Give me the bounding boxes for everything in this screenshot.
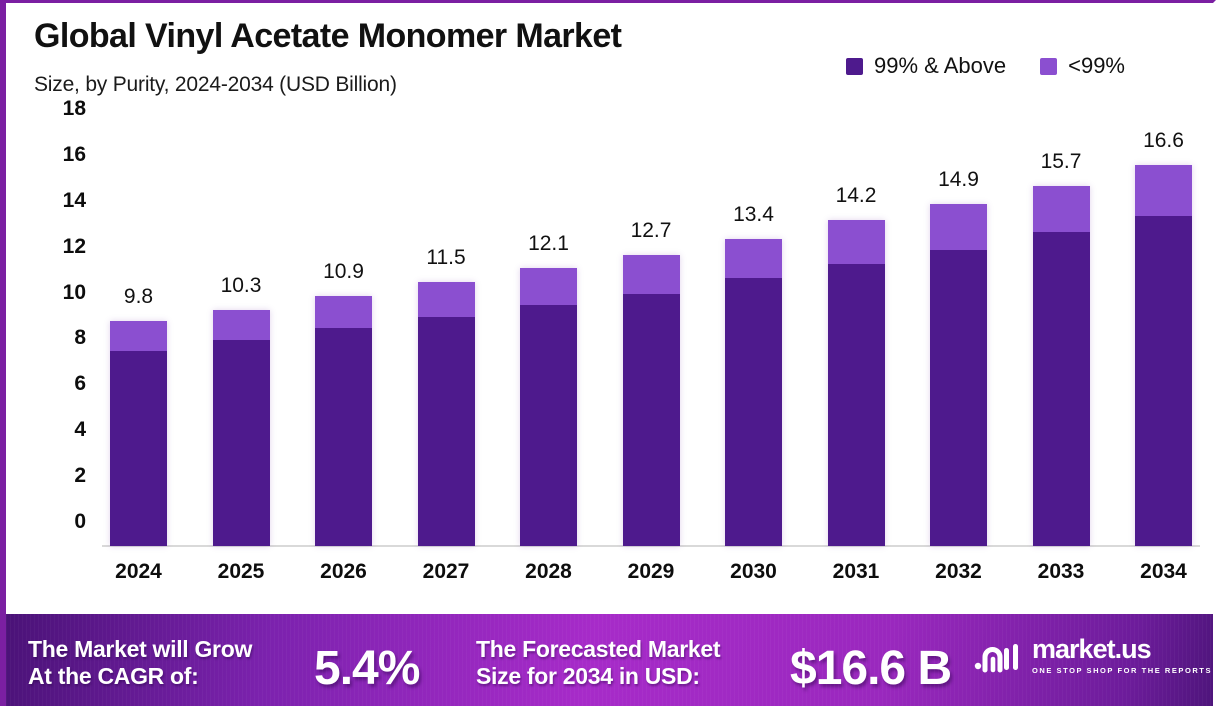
x-axis-label: 2032 bbox=[935, 560, 982, 584]
bar-value-label: 9.8 bbox=[124, 285, 153, 309]
bar-group[interactable]: 14.22031 bbox=[828, 133, 885, 546]
bar-segment-99-and-above[interactable] bbox=[418, 317, 475, 546]
cagr-value: 5.4% bbox=[314, 641, 419, 696]
bar-stack[interactable] bbox=[213, 310, 270, 546]
bar-segment-below-99[interactable] bbox=[110, 321, 167, 351]
legend-label: 99% & Above bbox=[874, 53, 1006, 79]
bar-stack[interactable] bbox=[828, 220, 885, 546]
y-axis-tick-label: 2 bbox=[46, 464, 86, 488]
bar-segment-below-99[interactable] bbox=[828, 220, 885, 264]
bar-stack[interactable] bbox=[623, 255, 680, 546]
bar-stack[interactable] bbox=[725, 239, 782, 546]
y-axis-tick-label: 0 bbox=[46, 510, 86, 534]
bar-stack[interactable] bbox=[520, 268, 577, 546]
bar-segment-below-99[interactable] bbox=[418, 282, 475, 316]
x-axis-label: 2028 bbox=[525, 560, 572, 584]
bar-group[interactable]: 14.92032 bbox=[930, 133, 987, 546]
bar-value-label: 11.5 bbox=[426, 246, 465, 270]
bar-segment-99-and-above[interactable] bbox=[110, 351, 167, 546]
y-axis-tick-label: 8 bbox=[46, 326, 86, 350]
x-axis-label: 2026 bbox=[320, 560, 367, 584]
logo-text: market.us ONE STOP SHOP FOR THE REPORTS bbox=[1032, 636, 1212, 675]
bar-stack[interactable] bbox=[110, 321, 167, 546]
page-title: Global Vinyl Acetate Monomer Market bbox=[34, 17, 621, 56]
y-axis-tick-label: 16 bbox=[46, 143, 86, 167]
legend-swatch-icon bbox=[846, 58, 863, 75]
bar-segment-below-99[interactable] bbox=[315, 296, 372, 328]
bar-group[interactable]: 13.42030 bbox=[725, 133, 782, 546]
cagr-label: The Market will Grow At the CAGR of: bbox=[28, 636, 252, 690]
chart-legend: 99% & Above<99% bbox=[846, 53, 1125, 79]
bar-value-label: 12.7 bbox=[631, 219, 672, 243]
bar-segment-below-99[interactable] bbox=[213, 310, 270, 340]
bar-segment-below-99[interactable] bbox=[520, 268, 577, 305]
bar-value-label: 10.9 bbox=[323, 260, 364, 284]
x-axis-label: 2034 bbox=[1140, 560, 1187, 584]
bar-group[interactable]: 12.12028 bbox=[520, 133, 577, 546]
legend-item-1[interactable]: <99% bbox=[1040, 53, 1125, 79]
bar-segment-below-99[interactable] bbox=[623, 255, 680, 294]
x-axis-label: 2030 bbox=[730, 560, 777, 584]
y-axis-tick-label: 14 bbox=[46, 189, 86, 213]
y-axis-tick-label: 4 bbox=[46, 418, 86, 442]
x-axis-label: 2025 bbox=[218, 560, 265, 584]
bar-segment-99-and-above[interactable] bbox=[725, 278, 782, 546]
bar-segment-99-and-above[interactable] bbox=[315, 328, 372, 546]
bar-group[interactable]: 10.32025 bbox=[213, 133, 270, 546]
bar-segment-99-and-above[interactable] bbox=[930, 250, 987, 546]
y-axis-tick-label: 12 bbox=[46, 235, 86, 259]
logo-name: market.us bbox=[1032, 636, 1212, 663]
bar-segment-99-and-above[interactable] bbox=[520, 305, 577, 546]
bar-series-container: 9.8202410.3202510.9202611.5202712.120281… bbox=[102, 133, 1200, 546]
page-subtitle: Size, by Purity, 2024-2034 (USD Billion) bbox=[34, 73, 397, 97]
x-axis-label: 2027 bbox=[423, 560, 470, 584]
bar-segment-99-and-above[interactable] bbox=[623, 294, 680, 546]
bar-group[interactable]: 10.92026 bbox=[315, 133, 372, 546]
bar-value-label: 14.2 bbox=[836, 184, 877, 208]
bar-segment-99-and-above[interactable] bbox=[213, 340, 270, 547]
bar-stack[interactable] bbox=[315, 296, 372, 546]
bar-value-label: 16.6 bbox=[1143, 129, 1184, 153]
bar-segment-99-and-above[interactable] bbox=[1135, 216, 1192, 546]
forecast-value: $16.6 B bbox=[790, 641, 951, 696]
bar-stack[interactable] bbox=[418, 282, 475, 546]
logo-mark-icon bbox=[973, 639, 1023, 673]
bar-value-label: 15.7 bbox=[1041, 150, 1082, 174]
bar-group[interactable]: 15.72033 bbox=[1033, 133, 1090, 546]
bar-segment-below-99[interactable] bbox=[1135, 165, 1192, 215]
bar-stack[interactable] bbox=[1033, 186, 1090, 546]
bar-group[interactable]: 9.82024 bbox=[110, 133, 167, 546]
x-axis-label: 2031 bbox=[833, 560, 880, 584]
bar-value-label: 12.1 bbox=[528, 232, 569, 256]
forecast-label: The Forecasted Market Size for 2034 in U… bbox=[476, 636, 720, 690]
x-axis-label: 2033 bbox=[1038, 560, 1085, 584]
bar-value-label: 14.9 bbox=[938, 168, 979, 192]
chart-plot-area: 024681012141618 9.8202410.3202510.920261… bbox=[102, 133, 1200, 546]
bar-group[interactable]: 16.62034 bbox=[1135, 133, 1192, 546]
logo-tagline: ONE STOP SHOP FOR THE REPORTS bbox=[1032, 666, 1212, 675]
y-axis-tick-label: 6 bbox=[46, 372, 86, 396]
bar-value-label: 13.4 bbox=[733, 203, 774, 227]
market-us-logo[interactable]: market.us ONE STOP SHOP FOR THE REPORTS bbox=[973, 636, 1212, 675]
bar-segment-99-and-above[interactable] bbox=[1033, 232, 1090, 546]
summary-banner: The Market will Grow At the CAGR of: 5.4… bbox=[6, 614, 1216, 706]
bar-group[interactable]: 12.72029 bbox=[623, 133, 680, 546]
bar-segment-below-99[interactable] bbox=[725, 239, 782, 278]
legend-label: <99% bbox=[1068, 53, 1125, 79]
x-axis-label: 2029 bbox=[628, 560, 675, 584]
bar-value-label: 10.3 bbox=[221, 274, 262, 298]
bar-stack[interactable] bbox=[1135, 165, 1192, 546]
bar-segment-below-99[interactable] bbox=[1033, 186, 1090, 232]
y-axis-tick-label: 10 bbox=[46, 281, 86, 305]
bar-segment-99-and-above[interactable] bbox=[828, 264, 885, 546]
x-axis-label: 2024 bbox=[115, 560, 162, 584]
bar-group[interactable]: 11.52027 bbox=[418, 133, 475, 546]
infographic-root: Global Vinyl Acetate Monomer Market Size… bbox=[0, 0, 1216, 706]
legend-swatch-icon bbox=[1040, 58, 1057, 75]
bar-segment-below-99[interactable] bbox=[930, 204, 987, 250]
y-axis-tick-label: 18 bbox=[46, 97, 86, 121]
bar-stack[interactable] bbox=[930, 204, 987, 546]
legend-item-0[interactable]: 99% & Above bbox=[846, 53, 1006, 79]
